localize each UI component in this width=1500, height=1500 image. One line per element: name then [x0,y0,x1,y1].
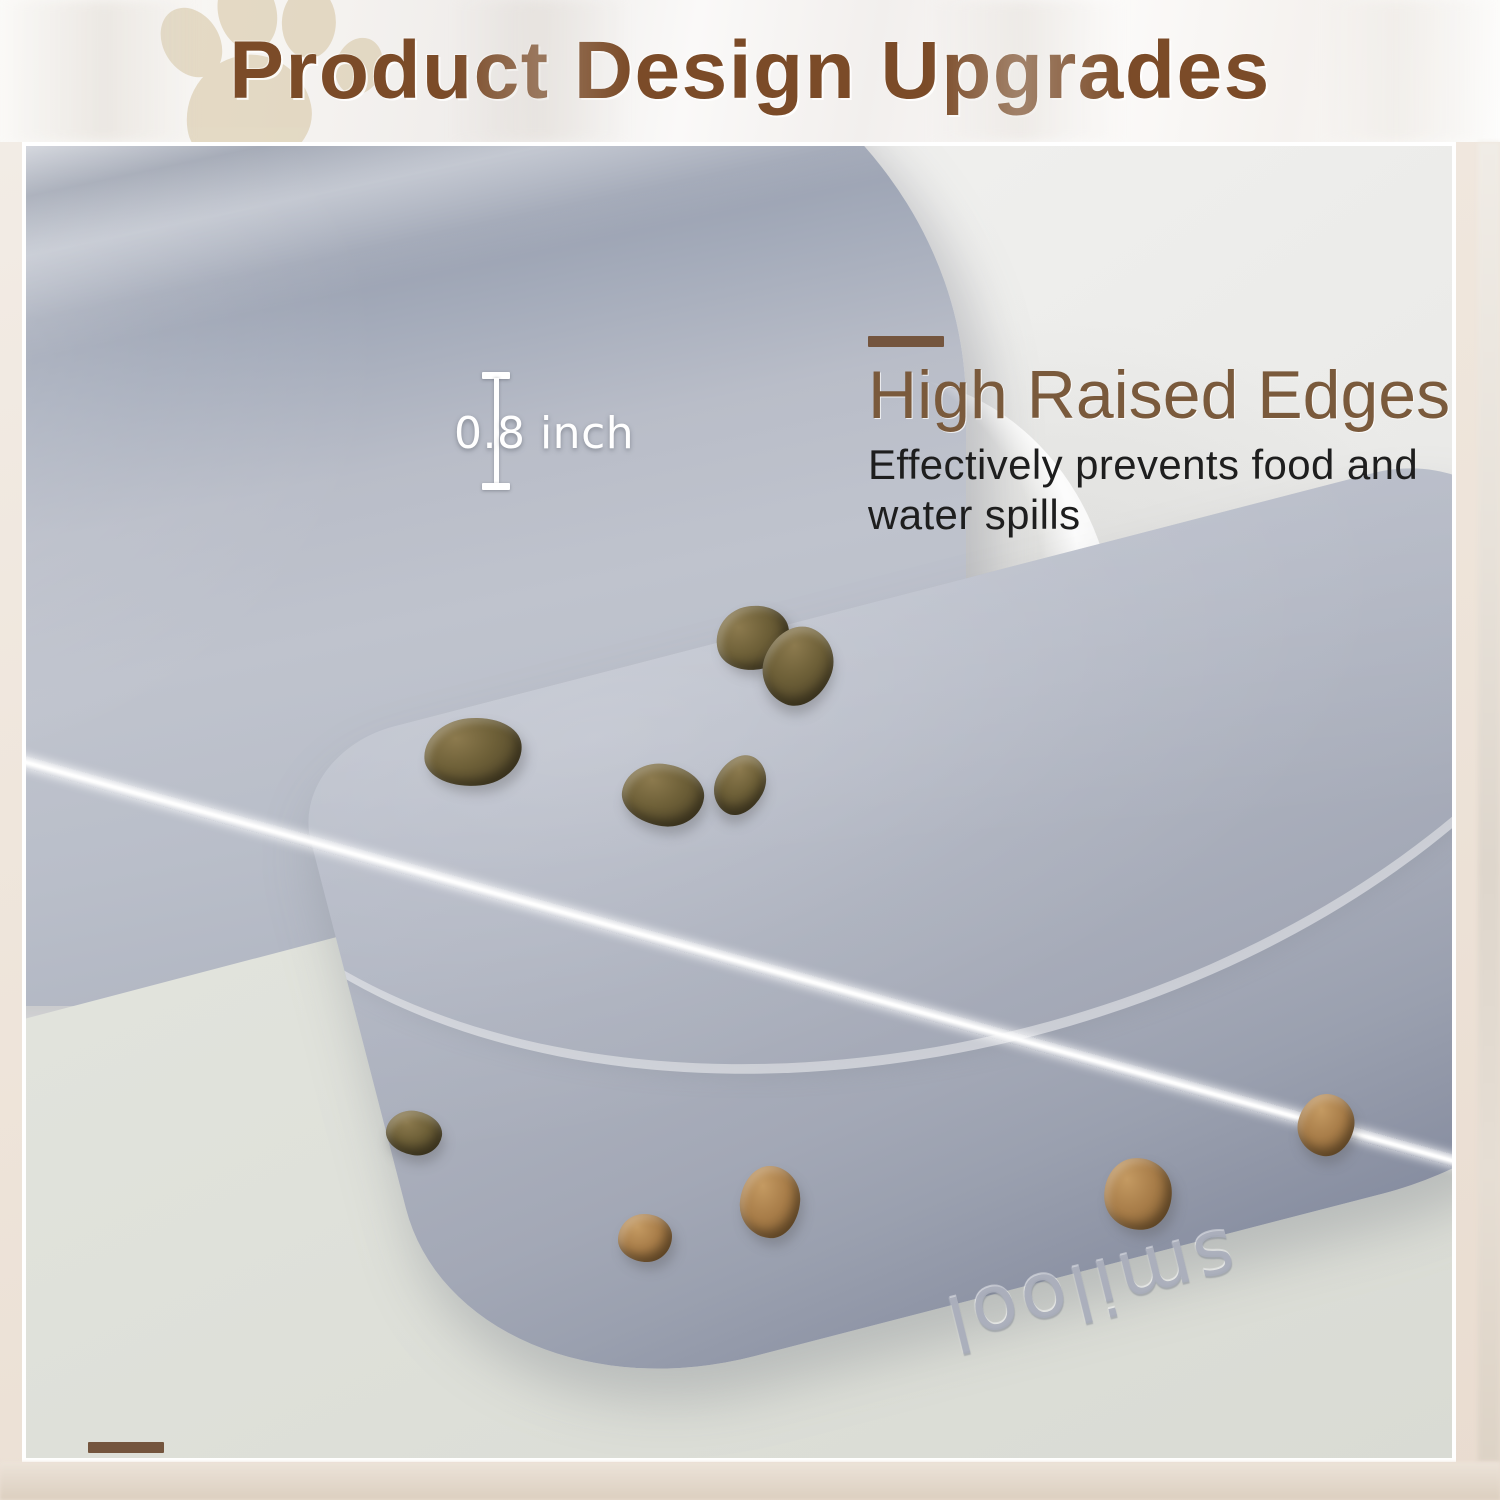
background-strip-bottom [0,1462,1500,1500]
dimension-label: 0.8 inch [454,408,634,459]
product-infographic: Product Design Upgrades smilool 0.8 inch [0,0,1500,1500]
callout-high-raised-edges: High Raised Edges Effectively prevents f… [868,336,1452,539]
callout-heading: High Raised Edges [868,361,1452,430]
callout-subtext: Effectively prevents food and water spil… [868,440,1452,539]
accent-dash-icon [868,336,944,347]
accent-dash-icon [88,1442,164,1453]
background-strip-right [1478,142,1500,1462]
product-photo: smilool 0.8 inch High Raised Edges Effec… [26,146,1452,1458]
callout-keeping-floor-clean: Keeping the floor clean Minimizes time s… [88,1442,1268,1458]
page-title: Product Design Upgrades [0,0,1500,142]
header-band: Product Design Upgrades [0,0,1500,142]
